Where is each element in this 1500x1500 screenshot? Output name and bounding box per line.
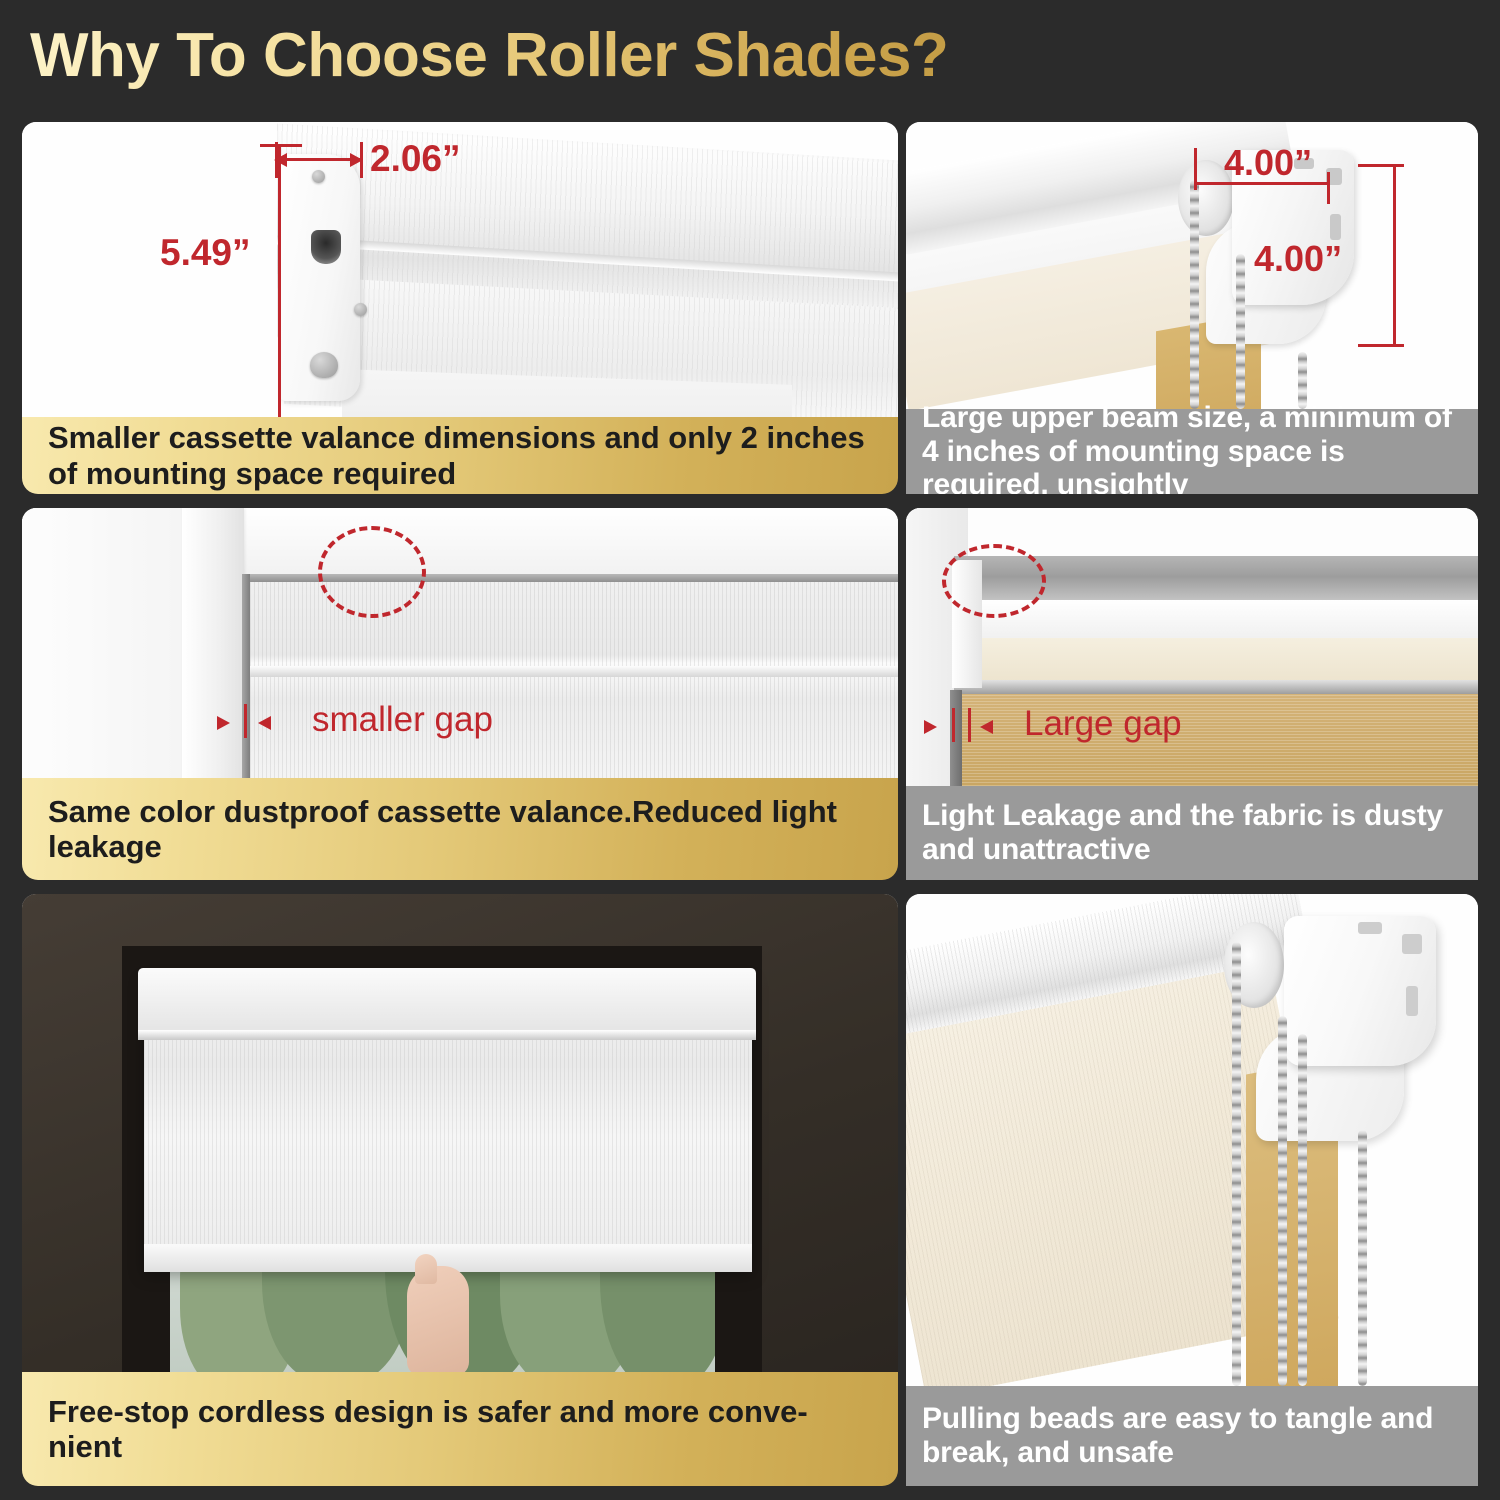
gap-arrow-left-icon <box>258 716 271 730</box>
gap-tick <box>952 708 955 742</box>
shade-rail <box>954 680 1478 694</box>
screw-icon <box>312 170 325 183</box>
valance-lip <box>138 1030 756 1040</box>
gap-tick <box>244 704 247 738</box>
dim-arrow-right-icon <box>350 153 363 167</box>
bracket-notch <box>1358 922 1382 934</box>
caption-dustproof-cassette-valance: Same color dustproof cassette valance.Re… <box>22 778 898 880</box>
gap-edge <box>242 574 250 778</box>
photo-pulling-beads <box>906 894 1478 1386</box>
highlight-circle <box>942 544 1046 618</box>
caption-text: Large upper beam size, a minimum of 4 in… <box>922 401 1462 494</box>
bead-chain[interactable] <box>1190 180 1199 409</box>
dim-tick-bottom <box>1358 344 1404 347</box>
caption-pulling-beads: Pulling beads are easy to tangle and bre… <box>906 1386 1478 1486</box>
bracket-notch <box>1406 986 1418 1016</box>
bracket-notch <box>1330 214 1341 240</box>
caption-text: Pulling beads are easy to tangle and bre… <box>922 1402 1462 1470</box>
caption-large-upper-beam: Large upper beam size, a minimum of 4 in… <box>906 409 1478 494</box>
dimension-label-height: 5.49” <box>160 232 251 274</box>
panel-pulling-beads: Pulling beads are easy to tangle and bre… <box>906 894 1478 1486</box>
comparison-grid: 2.06” 5.49” Smaller cassette valance dim… <box>0 110 1500 1500</box>
dim-tick-top <box>260 144 302 147</box>
bead-chain[interactable] <box>1358 1130 1367 1386</box>
dimension-label-width: 2.06” <box>370 138 461 180</box>
wall-surface <box>22 508 197 778</box>
bracket-notch <box>1402 934 1422 954</box>
photo-light-leakage: Large gap <box>906 508 1478 786</box>
bracket-slot <box>311 230 341 264</box>
bead-chain[interactable] <box>1298 1034 1307 1386</box>
window-frame-top <box>182 508 898 578</box>
bead-chain[interactable] <box>1236 254 1245 409</box>
page-title: Why To Choose Roller Shades? <box>30 20 948 91</box>
window-frame-side <box>182 508 244 778</box>
shade-mid-rail <box>250 666 898 677</box>
caption-light-leakage: Light Leakage and the fabric is dusty an… <box>906 786 1478 880</box>
header: Why To Choose Roller Shades? <box>0 0 1500 110</box>
bead-chain[interactable] <box>1278 1016 1287 1386</box>
gap-arrow-left-icon <box>980 720 993 734</box>
dim-line-height <box>1393 164 1396 346</box>
dim-tick-right <box>1327 172 1330 204</box>
screw-icon <box>354 303 367 316</box>
dimension-label-width: 4.00” <box>1224 142 1312 184</box>
panel-smaller-cassette-valance: 2.06” 5.49” Smaller cassette valance dim… <box>22 122 898 494</box>
panel-large-upper-beam: 4.00” 4.00” Large upper beam size, a min… <box>906 122 1478 494</box>
gap-arrow-right-icon <box>924 720 937 734</box>
dim-line-height <box>278 144 281 417</box>
panel-light-leakage: Large gap Light Leakage and the fabric i… <box>906 508 1478 880</box>
dim-tick-left <box>1194 148 1197 190</box>
screw-icon <box>310 352 338 378</box>
photo-window-scene <box>22 894 898 1372</box>
gap-label: Large gap <box>1024 704 1182 744</box>
gap-arrow-right-icon <box>217 716 230 730</box>
shade-fabric-cream <box>954 638 1478 686</box>
photo-dustproof-valance: smaller gap <box>22 508 898 778</box>
panel-dustproof-cassette-valance: smaller gap Same color dustproof cassett… <box>22 508 898 880</box>
finger <box>415 1254 437 1284</box>
caption-free-stop-cordless: Free-stop cordless design is safer and m… <box>22 1372 898 1486</box>
dim-tick-top <box>1358 164 1404 167</box>
panel-free-stop-cordless: Free-stop cordless design is safer and m… <box>22 894 898 1486</box>
gap-label: smaller gap <box>312 700 493 740</box>
caption-text: Same color dustproof cassette valance.Re… <box>48 794 872 864</box>
gap-tick <box>968 708 971 742</box>
caption-text: Smaller cassette valance dimensions and … <box>48 420 872 490</box>
bead-chain[interactable] <box>1232 942 1241 1386</box>
highlight-circle <box>318 526 426 618</box>
photo-cassette-valance: 2.06” 5.49” <box>22 122 898 417</box>
caption-text: Light Leakage and the fabric is dusty an… <box>922 799 1462 867</box>
photo-large-upper-beam: 4.00” 4.00” <box>906 122 1478 409</box>
caption-text: Free-stop cordless design is safer and m… <box>48 1394 872 1464</box>
caption-smaller-cassette-valance: Smaller cassette valance dimensions and … <box>22 417 898 494</box>
dimension-label-height: 4.00” <box>1254 238 1342 280</box>
